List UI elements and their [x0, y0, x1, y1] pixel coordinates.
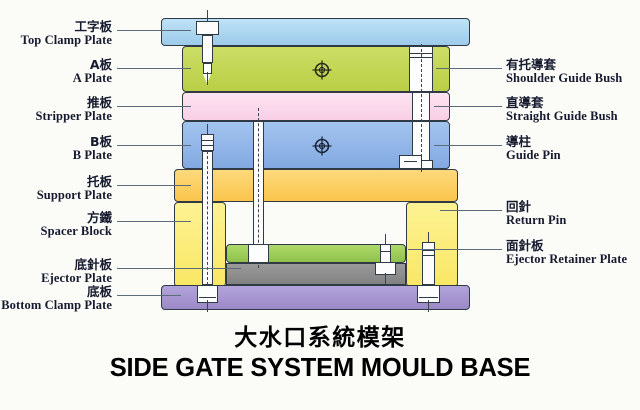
- return-pin-foot-line: [199, 297, 216, 298]
- top-screw-shank: [202, 35, 213, 63]
- label-en: Ejector Retainer Plate: [506, 253, 627, 267]
- leader-return-pin: [440, 210, 502, 211]
- label-ejector-retainer-plate: 面針板 Ejector Retainer Plate: [506, 239, 627, 266]
- label-cn: 有托導套: [506, 58, 622, 72]
- support-plate-screw-slot: [404, 161, 417, 162]
- support-plate-screw-head: [399, 155, 422, 169]
- label-cn: 工字板: [21, 20, 112, 34]
- top-screw-head-slot: [201, 21, 214, 22]
- label-b-plate: B板 B Plate: [73, 135, 112, 162]
- label-cn: 方鐵: [41, 211, 112, 225]
- label-shoulder-guide-bush: 有托導套 Shoulder Guide Bush: [506, 58, 622, 85]
- label-cn: 直導套: [506, 96, 618, 110]
- return-pin-centerline-top: [207, 124, 208, 134]
- top-screw-head: [196, 21, 219, 35]
- guide-pin-centerline: [421, 44, 422, 172]
- label-bottom-clamp-plate: 底板 Bottom Clamp Plate: [1, 285, 112, 312]
- label-en: B Plate: [73, 149, 112, 163]
- page-title-en: SIDE GATE SYSTEM MOULD BASE: [0, 354, 640, 383]
- leader-stripper-plate: [117, 106, 191, 107]
- label-en: Return Pin: [506, 214, 566, 228]
- leader-bottom-clamp-plate: [117, 295, 181, 296]
- return-pin-centerline-bottom: [207, 300, 208, 312]
- return-pin-centerline: [207, 151, 208, 285]
- bottom-screw-centerline-top: [428, 232, 429, 242]
- label-stripper-plate: 推板 Stripper Plate: [35, 96, 112, 123]
- label-en: Top Clamp Plate: [21, 34, 112, 48]
- leader-support-plate: [117, 185, 191, 186]
- bottom-screw-line-1: [422, 250, 435, 251]
- top-screw-thread-line: [203, 63, 212, 64]
- leader-spacer-block: [117, 221, 191, 222]
- return-pin-head: [201, 134, 214, 151]
- leader-b-plate: [117, 145, 191, 146]
- label-cn: 回針: [506, 200, 566, 214]
- plate-stripper-plate: [182, 92, 450, 121]
- label-cn: 底針板: [41, 258, 112, 272]
- return-pin-head-line-1: [201, 140, 214, 141]
- label-cn: 推板: [35, 96, 112, 110]
- crosshair-marker-b-plate: [312, 136, 332, 156]
- label-en: Straight Guide Bush: [506, 110, 618, 124]
- leader-straight-guide-bush: [434, 106, 502, 107]
- label-support-plate: 托板 Support Plate: [37, 175, 112, 202]
- label-straight-guide-bush: 直導套 Straight Guide Bush: [506, 96, 618, 123]
- leader-ejector-plate: [117, 268, 241, 269]
- centre-ejector-head: [248, 244, 269, 263]
- return-pin-head-line-2: [201, 145, 214, 146]
- label-en: Stripper Plate: [35, 110, 112, 124]
- page-title-cn: 大水口系統模架: [0, 318, 640, 352]
- retainer-screw-line-1: [380, 251, 391, 252]
- label-top-clamp-plate: 工字板 Top Clamp Plate: [21, 20, 112, 47]
- label-en: Ejector Plate: [41, 272, 112, 286]
- label-spacer-block: 方鐵 Spacer Block: [41, 211, 112, 238]
- diagram-page: 工字板 Top Clamp Plate A板 A Plate 推板 Stripp…: [0, 0, 640, 410]
- label-en: Shoulder Guide Bush: [506, 72, 622, 86]
- leader-ejector-retainer-plate: [408, 249, 502, 250]
- bottom-screw-line-2: [422, 255, 435, 256]
- leader-shoulder-guide-bush: [436, 68, 502, 69]
- plate-spacer-block-left: [174, 202, 226, 287]
- plate-support-plate: [174, 169, 458, 202]
- label-ejector-plate: 底針板 Ejector Plate: [41, 258, 112, 285]
- label-en: Spacer Block: [41, 225, 112, 239]
- label-cn: 導柱: [506, 135, 561, 149]
- label-en: Support Plate: [37, 189, 112, 203]
- label-cn: B板: [73, 135, 112, 149]
- retainer-screw-centerline-bottom: [385, 273, 386, 285]
- top-screw-tip-centerline: [207, 72, 208, 85]
- label-cn: A板: [73, 58, 112, 72]
- label-en: Bottom Clamp Plate: [1, 299, 112, 313]
- label-en: A Plate: [73, 72, 112, 86]
- leader-top-clamp-plate: [117, 30, 191, 31]
- label-cn: 面針板: [506, 239, 627, 253]
- bottom-screw-head-line: [419, 297, 438, 298]
- leader-guide-pin: [434, 145, 502, 146]
- leader-a-plate: [117, 68, 191, 69]
- bottom-screw-centerline-bottom: [428, 300, 429, 312]
- title-block: 大水口系統模架 SIDE GATE SYSTEM MOULD BASE: [0, 318, 640, 383]
- label-en: Guide Pin: [506, 149, 561, 163]
- label-return-pin: 回針 Return Pin: [506, 200, 566, 227]
- label-a-plate: A板 A Plate: [73, 58, 112, 85]
- label-cn: 底板: [1, 285, 112, 299]
- retainer-screw-centerline-top: [385, 234, 386, 244]
- label-cn: 托板: [37, 175, 112, 189]
- label-guide-pin: 導柱 Guide Pin: [506, 135, 561, 162]
- crosshair-marker-a-plate: [312, 60, 332, 80]
